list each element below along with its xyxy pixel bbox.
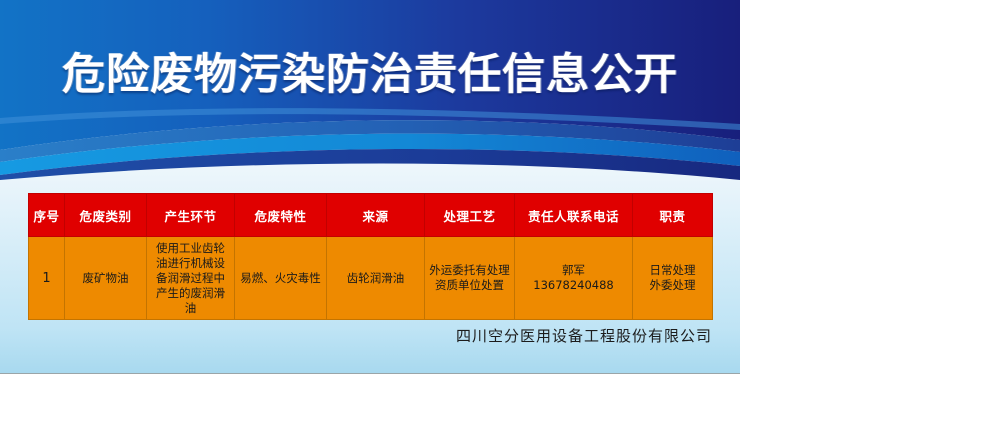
table-row: 1 废矿物油 使用工业齿轮油进行机械设备润滑过程中产生的废润滑油 易燃、火灾毒性… — [29, 237, 713, 320]
contact-phone: 13678240488 — [519, 278, 628, 293]
company-name: 四川空分医用设备工程股份有限公司 — [0, 325, 712, 346]
poster-title: 危险废物污染防治责任信息公开 — [0, 47, 740, 103]
responsibility-line-1: 日常处理 — [637, 263, 708, 278]
cell-category: 废矿物油 — [65, 237, 147, 320]
column-header-property: 危废特性 — [235, 194, 327, 237]
column-header-duty: 职责 — [633, 194, 713, 237]
cell-responsibility: 日常处理 外委处理 — [633, 237, 713, 320]
hazardous-waste-table: 序号 危废类别 产生环节 危废特性 来源 处理工艺 责任人联系电话 职责 1 废… — [28, 193, 713, 320]
responsibility-line-2: 外委处理 — [637, 278, 708, 293]
cell-generation-stage: 使用工业齿轮油进行机械设备润滑过程中产生的废润滑油 — [147, 237, 235, 320]
contact-name: 郭军 — [519, 263, 628, 278]
cell-source: 齿轮润滑油 — [327, 237, 425, 320]
column-header-source: 来源 — [327, 194, 425, 237]
information-disclosure-poster: 危险废物污染防治责任信息公开 序号 危废类别 产生环节 危废特性 来源 处理工艺… — [0, 0, 740, 373]
column-header-category: 危废类别 — [65, 194, 147, 237]
cell-contact: 郭军 13678240488 — [515, 237, 633, 320]
column-header-index: 序号 — [29, 194, 65, 237]
table-header-row: 序号 危废类别 产生环节 危废特性 来源 处理工艺 责任人联系电话 职责 — [29, 194, 713, 237]
column-header-treatment: 处理工艺 — [425, 194, 515, 237]
column-header-stage: 产生环节 — [147, 194, 235, 237]
cell-hazard-property: 易燃、火灾毒性 — [235, 237, 327, 320]
cell-treatment-process: 外运委托有处理资质单位处置 — [425, 237, 515, 320]
cell-index: 1 — [29, 237, 65, 320]
column-header-contact: 责任人联系电话 — [515, 194, 633, 237]
